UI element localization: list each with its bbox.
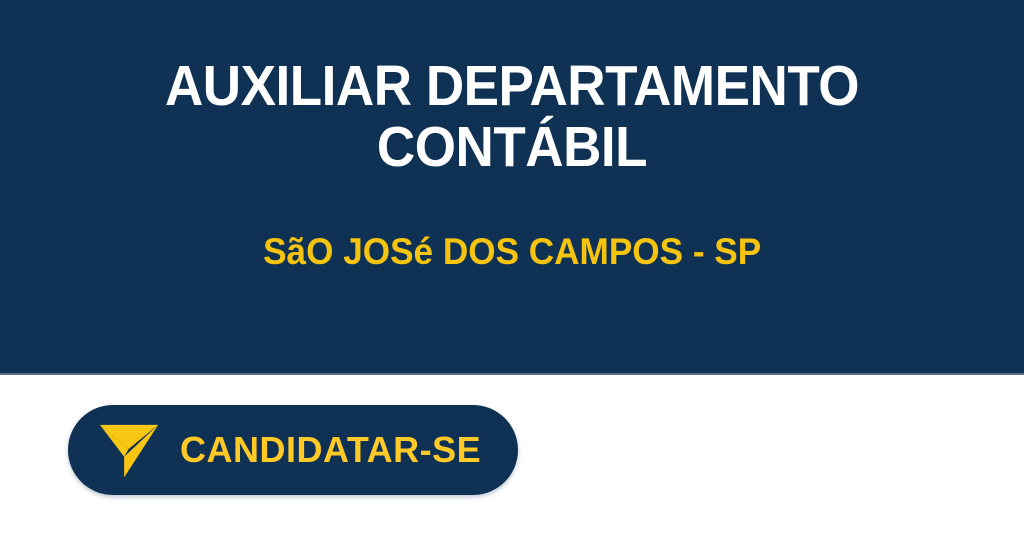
page-title: AUXILIAR DEPARTAMENTO CONTÁBIL [103, 56, 921, 178]
job-title-line-2: CONTÁBIL [377, 115, 647, 179]
job-title-line-1: AUXILIAR DEPARTAMENTO [165, 54, 859, 118]
job-location: SãO JOSé DOS CAMPOS - SP [263, 232, 761, 273]
action-bar: CANDIDATAR-SE e EMPREGA SÃO JOSÉ [0, 375, 1024, 536]
send-paper-plane-icon [98, 419, 160, 481]
hero-banner: AUXILIAR DEPARTAMENTO CONTÁBIL SãO JOSé … [0, 0, 1024, 375]
apply-button[interactable]: CANDIDATAR-SE [68, 405, 518, 495]
apply-button-label: CANDIDATAR-SE [180, 432, 481, 468]
job-posting-card: AUXILIAR DEPARTAMENTO CONTÁBIL SãO JOSé … [0, 0, 1024, 538]
